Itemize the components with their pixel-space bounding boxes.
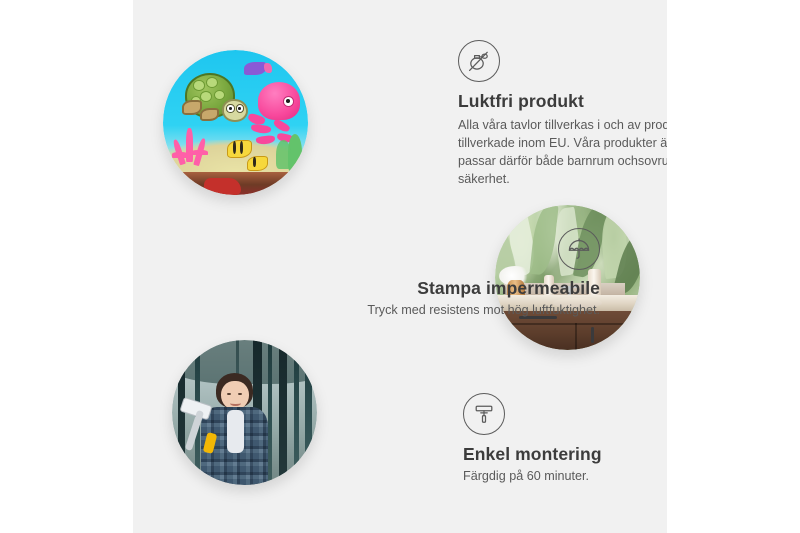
umbrella-icon <box>558 228 600 270</box>
feature-easy-mounting: Enkel montering Färgdig på 60 minuter. <box>463 393 667 486</box>
product-image-underwater-kids-mural <box>163 50 308 195</box>
content-panel: Luktfri produkt Alla våra tavlor tillver… <box>133 0 667 533</box>
promo-infographic: Luktfri produkt Alla våra tavlor tillver… <box>0 0 800 533</box>
turtle-illustration <box>180 73 244 125</box>
coral-illustration <box>172 128 221 174</box>
feature-title: Luktfri produkt <box>458 91 667 112</box>
feature-odour-free: Luktfri produkt Alla våra tavlor tillver… <box>458 40 667 189</box>
no-fragrance-icon <box>458 40 500 82</box>
feature-waterproof: Stampa impermeabile Tryck med resistens … <box>253 228 600 320</box>
feature-description: Färgdig på 60 minuter. <box>463 468 667 486</box>
feature-description: Alla våra tavlor tillverkas i och av pro… <box>458 117 667 189</box>
feature-description: Tryck med resistens mot hög luftfuktighe… <box>253 302 600 320</box>
feature-title: Stampa impermeabile <box>253 278 600 299</box>
feature-title: Enkel montering <box>463 444 667 465</box>
paint-roller-icon <box>463 393 505 435</box>
product-image-woman-with-roller-forest-mural <box>172 340 317 485</box>
